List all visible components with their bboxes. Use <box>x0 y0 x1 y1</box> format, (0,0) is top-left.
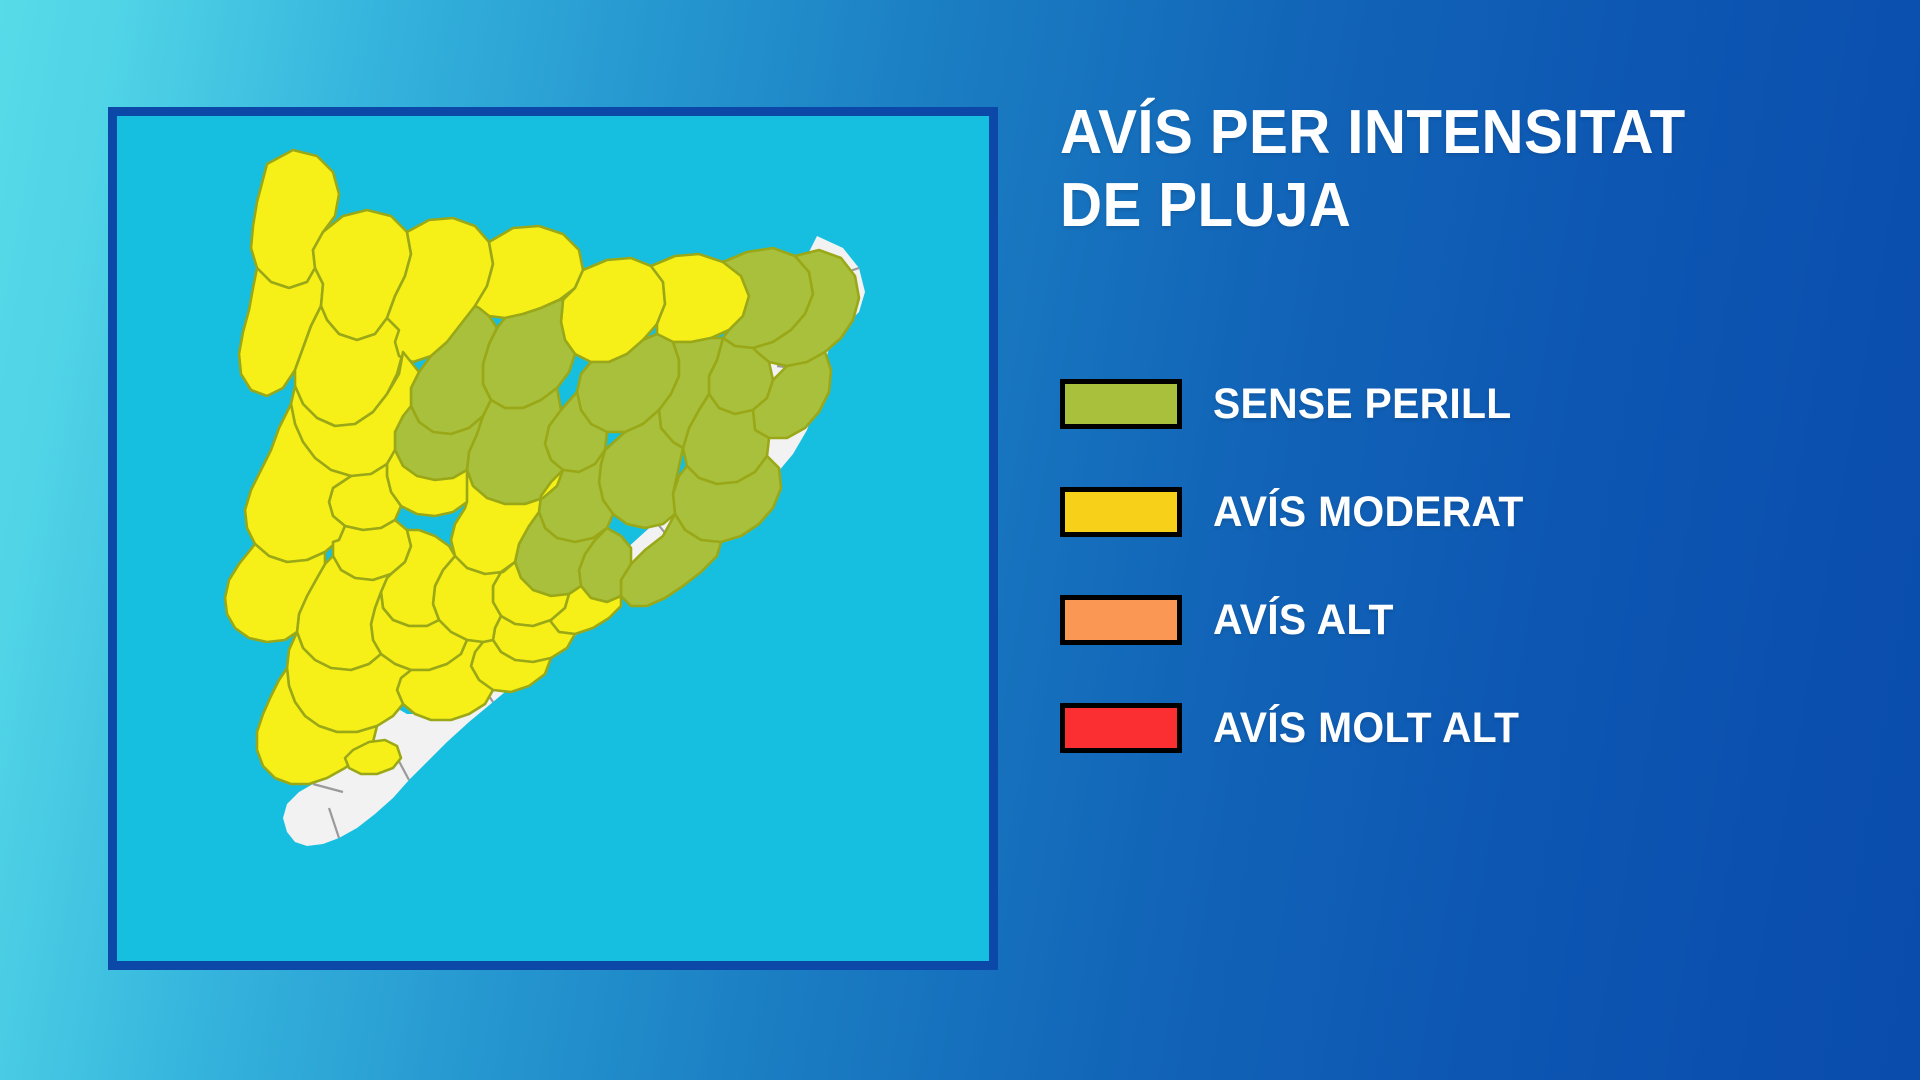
legend-swatch-avis-alt <box>1060 595 1182 645</box>
legend-label-sense-perill: SENSE PERILL <box>1213 380 1512 429</box>
legend-item-sense-perill: SENSE PERILL <box>1060 350 1860 458</box>
info-column: AVÍS PER INTENSITAT DE PLUJA SENSE PERIL… <box>1060 96 1860 782</box>
legend-swatch-avis-moderat <box>1060 487 1182 537</box>
legend-swatch-sense-perill <box>1060 379 1182 429</box>
legend-item-avis-molt-alt: AVÍS MOLT ALT <box>1060 674 1860 782</box>
legend: SENSE PERILL AVÍS MODERAT AVÍS ALT AVÍS … <box>1060 350 1860 782</box>
legend-item-avis-moderat: AVÍS MODERAT <box>1060 458 1860 566</box>
page-title: AVÍS PER INTENSITAT DE PLUJA <box>1060 96 1756 242</box>
infographic-root: AVÍS PER INTENSITAT DE PLUJA SENSE PERIL… <box>0 0 1920 1080</box>
legend-item-avis-alt: AVÍS ALT <box>1060 566 1860 674</box>
map-panel <box>108 107 998 970</box>
legend-label-avis-alt: AVÍS ALT <box>1213 596 1394 645</box>
legend-label-avis-molt-alt: AVÍS MOLT ALT <box>1213 704 1519 753</box>
legend-label-avis-moderat: AVÍS MODERAT <box>1213 488 1524 537</box>
legend-swatch-avis-molt-alt <box>1060 703 1182 753</box>
catalonia-warning-map <box>117 116 989 961</box>
